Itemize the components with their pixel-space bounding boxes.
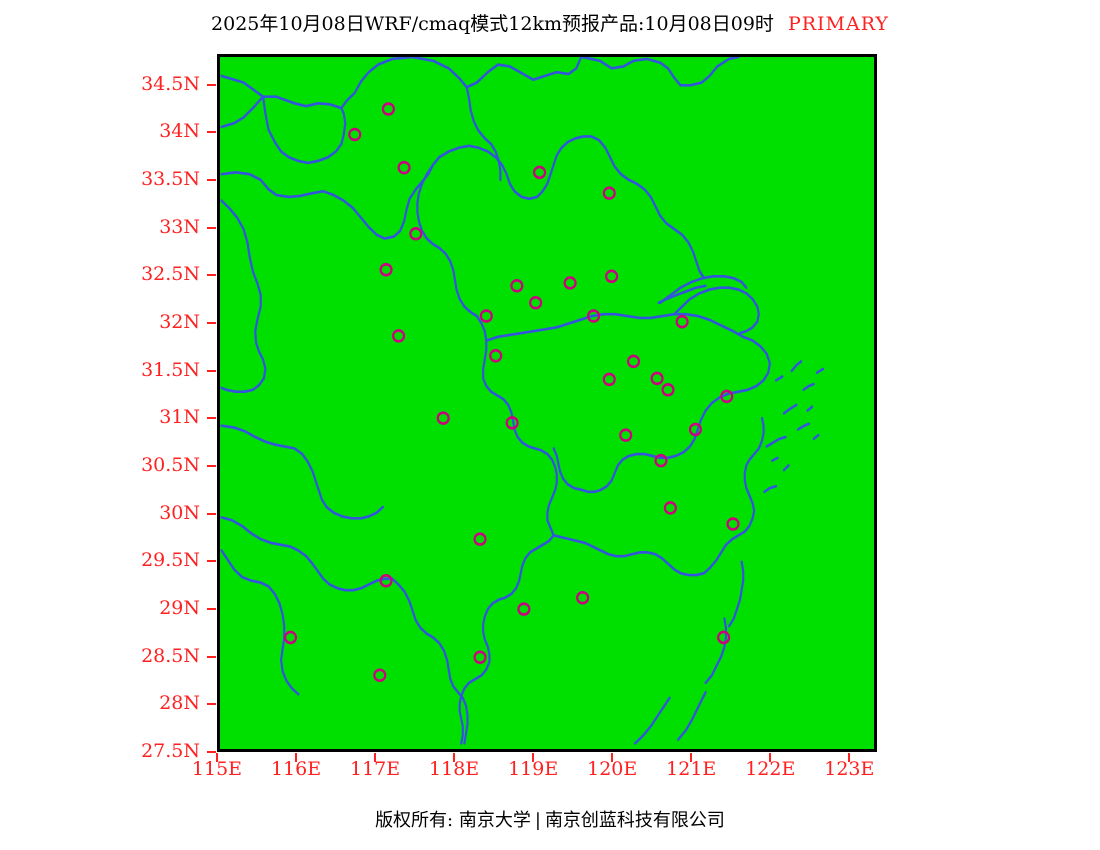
copyright-footer: 版权所有: 南京大学|南京创蓝科技有限公司 — [0, 810, 1100, 832]
y-tick-label: 34.5N — [60, 75, 200, 94]
y-tick-mark — [207, 227, 216, 229]
station-marker[interactable] — [481, 311, 492, 322]
y-tick-label: 28N — [60, 694, 200, 713]
y-tick-mark — [207, 322, 216, 324]
station-marker[interactable] — [530, 297, 541, 308]
y-tick-label: 32.5N — [60, 265, 200, 284]
x-tick-mark — [769, 753, 771, 762]
y-tick-mark — [207, 656, 216, 658]
x-tick-label: 120E — [572, 760, 652, 779]
x-tick-mark — [216, 753, 218, 762]
map-canvas[interactable] — [220, 57, 874, 749]
x-tick-label: 117E — [335, 760, 415, 779]
y-tick-label: 32N — [60, 313, 200, 332]
station-marker[interactable] — [399, 162, 410, 173]
copyright-separator: | — [531, 810, 545, 831]
copyright-right: 南京创蓝科技有限公司 — [545, 810, 725, 831]
station-marker[interactable] — [381, 264, 392, 275]
station-marker[interactable] — [490, 350, 501, 361]
y-tick-mark — [207, 179, 216, 181]
x-tick-label: 119E — [493, 760, 573, 779]
station-marker[interactable] — [475, 652, 486, 663]
station-marker[interactable] — [718, 632, 729, 643]
station-marker[interactable] — [393, 330, 404, 341]
y-tick-label: 34N — [60, 122, 200, 141]
y-tick-mark — [207, 560, 216, 562]
y-tick-label: 31N — [60, 408, 200, 427]
x-tick-label: 118E — [414, 760, 494, 779]
station-marker[interactable] — [663, 384, 674, 395]
station-marker[interactable] — [511, 280, 522, 291]
y-tick-label: 30N — [60, 504, 200, 523]
y-tick-mark — [207, 703, 216, 705]
map-plot-frame[interactable] — [217, 54, 877, 752]
x-tick-mark — [453, 753, 455, 762]
station-marker[interactable] — [628, 356, 639, 367]
y-tick-mark — [207, 513, 216, 515]
station-marker[interactable] — [620, 430, 631, 441]
station-marker[interactable] — [475, 534, 486, 545]
y-tick-label: 28.5N — [60, 647, 200, 666]
x-tick-mark — [295, 753, 297, 762]
y-tick-mark — [207, 751, 216, 753]
y-tick-label: 31.5N — [60, 361, 200, 380]
station-marker[interactable] — [677, 316, 688, 327]
station-marker[interactable] — [604, 374, 615, 385]
station-marker[interactable] — [410, 228, 421, 239]
station-marker[interactable] — [665, 502, 676, 513]
y-tick-mark — [207, 274, 216, 276]
station-marker[interactable] — [285, 632, 296, 643]
page-title-main: 2025年10月08日WRF/cmaq模式12km预报产品:10月08日09时 — [211, 13, 774, 35]
x-tick-label: 122E — [730, 760, 810, 779]
copyright-left: 版权所有: 南京大学 — [375, 810, 531, 831]
y-tick-mark — [207, 84, 216, 86]
page-title: 2025年10月08日WRF/cmaq模式12km预报产品:10月08日09时P… — [0, 13, 1100, 35]
y-tick-label: 33N — [60, 218, 200, 237]
y-tick-label: 30.5N — [60, 456, 200, 475]
y-tick-mark — [207, 417, 216, 419]
station-marker[interactable] — [577, 592, 588, 603]
station-marker[interactable] — [652, 373, 663, 384]
y-tick-mark — [207, 370, 216, 372]
x-tick-mark — [848, 753, 850, 762]
station-marker[interactable] — [349, 129, 360, 140]
station-marker[interactable] — [728, 519, 739, 530]
y-tick-mark — [207, 131, 216, 133]
x-tick-mark — [374, 753, 376, 762]
y-tick-label: 29N — [60, 599, 200, 618]
y-tick-mark — [207, 465, 216, 467]
station-marker[interactable] — [518, 604, 529, 615]
y-tick-mark — [207, 608, 216, 610]
station-marker[interactable] — [383, 104, 394, 115]
x-tick-label: 115E — [177, 760, 257, 779]
x-tick-label: 121E — [651, 760, 731, 779]
x-tick-label: 123E — [809, 760, 889, 779]
x-tick-label: 116E — [256, 760, 336, 779]
station-marker[interactable] — [565, 277, 576, 288]
station-marker[interactable] — [604, 188, 615, 199]
y-tick-label: 29.5N — [60, 551, 200, 570]
y-tick-label: 33.5N — [60, 170, 200, 189]
y-tick-label: 27.5N — [60, 742, 200, 761]
x-tick-mark — [611, 753, 613, 762]
province-boundary-lines — [222, 57, 824, 743]
station-marker[interactable] — [606, 271, 617, 282]
page-title-tag: PRIMARY — [774, 13, 889, 35]
station-marker[interactable] — [438, 413, 449, 424]
station-marker[interactable] — [374, 670, 385, 681]
station-marker[interactable] — [534, 167, 545, 178]
x-tick-mark — [690, 753, 692, 762]
x-tick-mark — [532, 753, 534, 762]
